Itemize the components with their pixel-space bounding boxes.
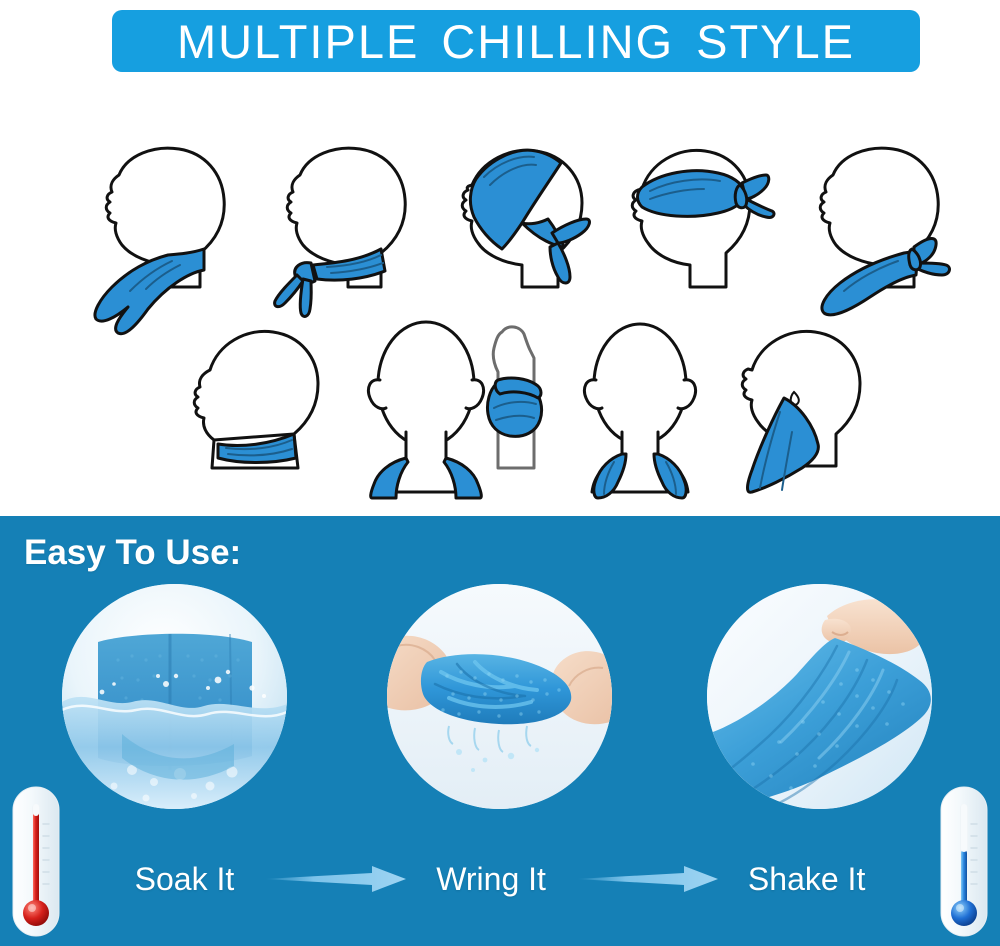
figure-neck-gaiter-flat — [168, 322, 348, 497]
figure-wrist-wrap — [476, 318, 556, 498]
header-word-2: CHILLING — [441, 15, 674, 68]
step-label-soak: Soak It — [135, 862, 235, 896]
figure-neck-scarf-back-knot — [786, 137, 976, 317]
styles-illustration-area — [0, 82, 1000, 510]
photo-soak-it — [62, 584, 287, 809]
header-word-3: STYLE — [696, 15, 855, 68]
figure-face-wipe-profile — [710, 320, 900, 500]
arrow-right-1-icon — [260, 864, 410, 894]
header-title: MULTIPLECHILLINGSTYLE — [177, 18, 855, 65]
hot-thermometer-icon — [10, 784, 62, 939]
figure-headband-forehead — [600, 137, 800, 317]
arrow-right-2-icon — [572, 864, 722, 894]
photo-shake-it — [707, 584, 932, 809]
product-infographic: MULTIPLECHILLINGSTYLE — [0, 0, 1000, 946]
step-label-wring: Wring It — [436, 862, 546, 896]
steps-row: Soak It Wring It — [0, 846, 1000, 912]
easy-to-use-title: Easy To Use: — [24, 534, 241, 572]
figure-neck-scarf-knot-profile — [253, 137, 443, 317]
figure-neck-hang-front — [552, 322, 727, 497]
cold-thermometer-icon — [938, 784, 990, 939]
header-word-1: MULTIPLE — [177, 15, 419, 68]
header-banner: MULTIPLECHILLINGSTYLE — [112, 10, 920, 72]
figure-neck-scarf-wrap-profile — [72, 137, 262, 317]
step-label-shake: Shake It — [748, 862, 865, 896]
photo-wring-it — [387, 584, 612, 809]
easy-to-use-panel: Easy To Use: — [0, 516, 1000, 946]
